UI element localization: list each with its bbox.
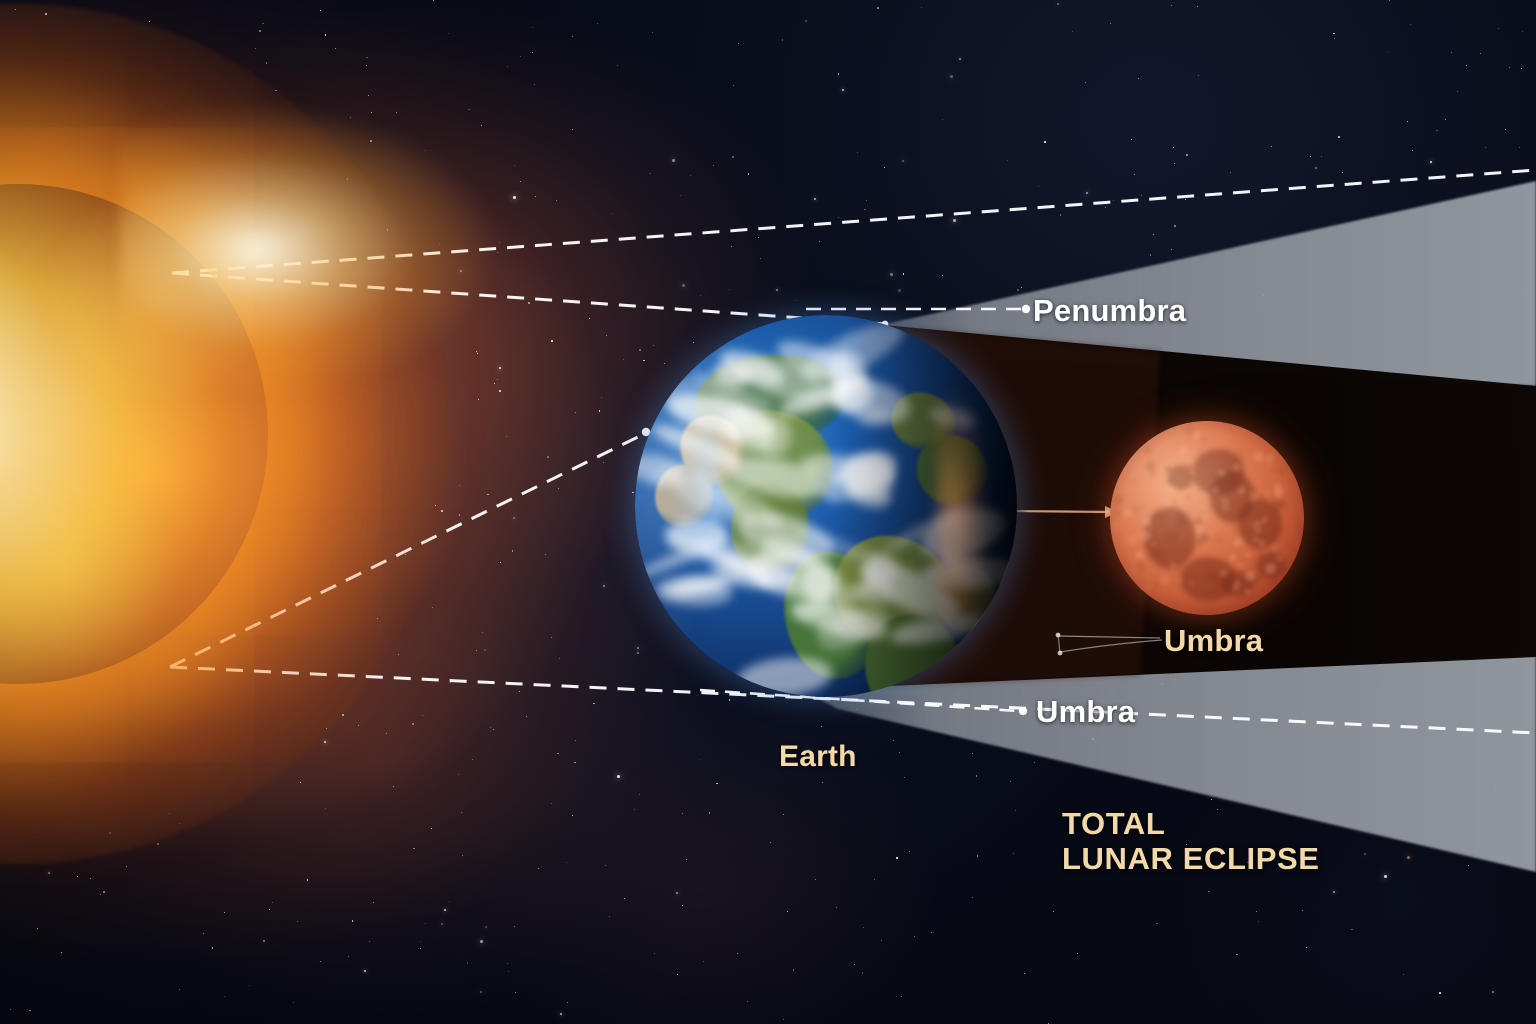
umbra-label-gold: Umbra [1164, 623, 1263, 659]
earth-rim-light [635, 315, 1017, 697]
umbra-label-white: Umbra [1036, 694, 1135, 730]
title-line-2: LUNAR ECLIPSE [1062, 841, 1320, 876]
umbra-white-leader-dot [1019, 707, 1027, 715]
title-line-1: TOTAL [1062, 806, 1320, 841]
diagram-title: TOTAL LUNAR ECLIPSE [1062, 806, 1320, 876]
earth-label: Earth [779, 740, 857, 774]
umbra-gold-leader-dot-lower [1058, 651, 1063, 656]
moon-globe [1110, 421, 1304, 615]
penumbra-label: Penumbra [1033, 293, 1186, 329]
umbra-gold-leader-dot-upper [1056, 633, 1061, 638]
sun-flare [120, 60, 740, 440]
moon-shading [1110, 421, 1304, 615]
lunar-eclipse-diagram: Penumbra Umbra Umbra Earth TOTAL LUNAR E… [0, 0, 1536, 1024]
penumbra-leader-dot [1022, 305, 1030, 313]
earth-globe [635, 315, 1017, 697]
